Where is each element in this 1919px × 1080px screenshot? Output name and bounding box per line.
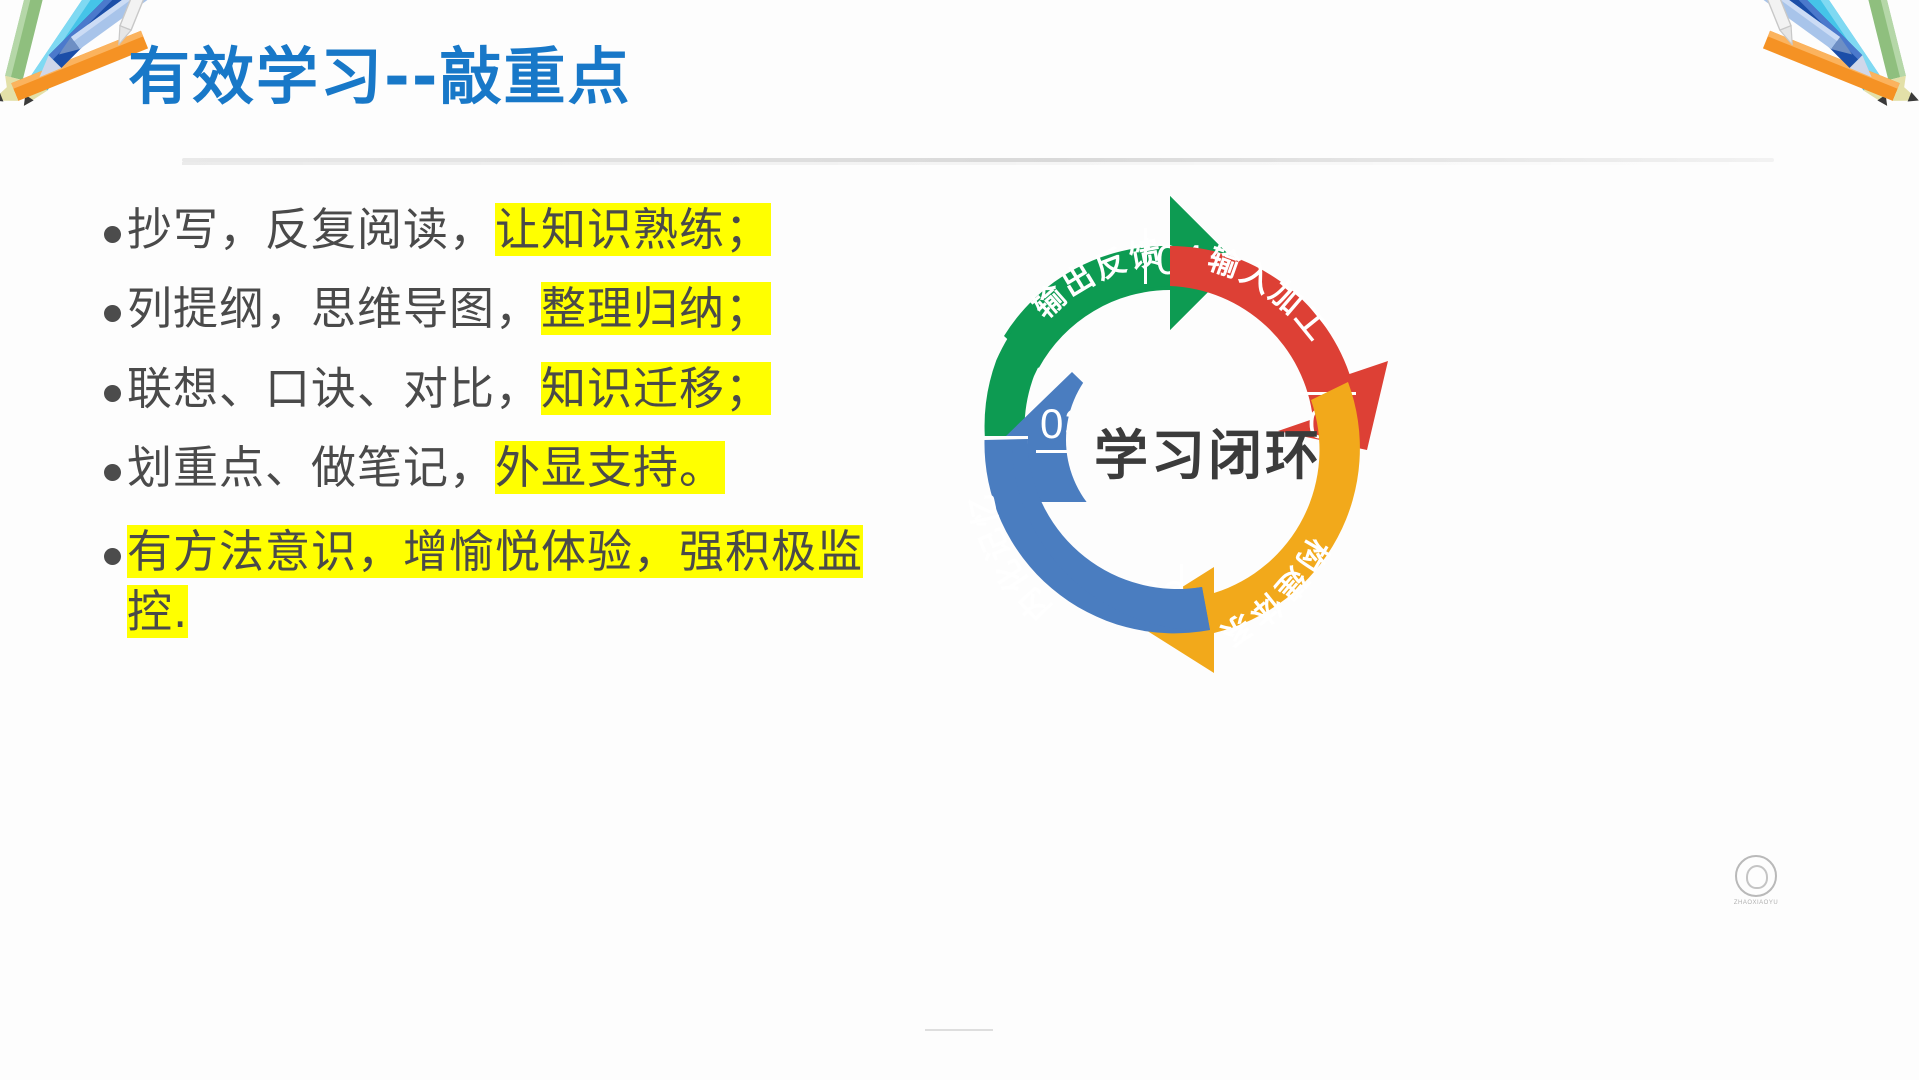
bullet-dot-icon xyxy=(104,548,121,565)
title-container: 有效学习--敲重点 xyxy=(128,44,631,111)
bullet-dot-icon xyxy=(104,305,121,322)
bullet-plain-text: 列提纲，思维导图， xyxy=(127,282,541,335)
bullet-plain-text: 联想、口诀、对比， xyxy=(127,362,541,415)
bullet-plain-text: 划重点、做笔记， xyxy=(127,441,495,494)
list-item: 联想、口诀、对比，知识迁移； xyxy=(104,359,924,419)
bullet-highlight-text: 让知识熟练； xyxy=(495,203,771,256)
bullet-dot-icon xyxy=(104,226,121,243)
list-item: 划重点、做笔记，外显支持。 xyxy=(104,438,924,498)
page-title: 有效学习--敲重点 xyxy=(128,44,631,111)
bullet-dot-icon xyxy=(104,385,121,402)
footer-divider xyxy=(925,1029,993,1031)
bullet-text: 联想、口诀、对比，知识迁移； xyxy=(127,359,771,419)
bullet-highlight-text: 知识迁移； xyxy=(541,362,771,415)
bullet-text: 列提纲，思维导图，整理归纳； xyxy=(127,279,771,339)
watermark-text: ZHAOXIAOYU xyxy=(1729,900,1783,906)
bullet-text: 划重点、做笔记，外显支持。 xyxy=(127,438,725,498)
bullet-highlight-text: 外显支持。 xyxy=(495,441,725,494)
list-item: 列提纲，思维导图，整理归纳； xyxy=(104,279,924,339)
pencils-decoration-right xyxy=(1695,0,1919,180)
bullet-highlight-text: 有方法意识，增愉悦体验，强积极监控. xyxy=(127,525,863,638)
watermark-logo: ZHAOXIAOYU xyxy=(1729,855,1783,917)
list-item: 有方法意识，增愉悦体验，强积极监控. xyxy=(104,522,924,643)
bullet-highlight-text: 整理归纳； xyxy=(541,282,771,335)
bullet-dot-icon xyxy=(104,464,121,481)
list-item: 抄写，反复阅读，让知识熟练； xyxy=(104,200,924,260)
bullet-list: 抄写，反复阅读，让知识熟练； 列提纲，思维导图，整理归纳； 联想、口诀、对比，知… xyxy=(104,200,924,662)
watermark-ring-icon xyxy=(1735,855,1777,897)
bullet-text: 抄写，反复阅读，让知识熟练； xyxy=(127,200,771,260)
bullet-text: 有方法意识，增愉悦体验，强积极监控. xyxy=(127,522,867,643)
learning-cycle-diagram: 输出反馈 04 输入加工 01 xyxy=(880,150,1480,730)
slide-canvas: 有效学习--敲重点 抄写，反复阅读，让知识熟练； 列提纲，思维导图，整理归纳； … xyxy=(0,0,1919,1080)
bullet-plain-text: 抄写，反复阅读， xyxy=(127,203,495,256)
